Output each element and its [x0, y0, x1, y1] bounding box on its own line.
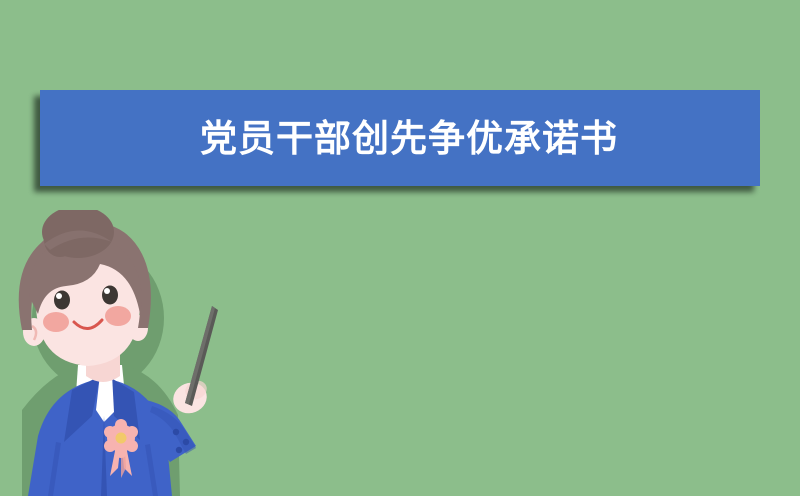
- eye-left-highlight: [56, 293, 62, 299]
- cuff-button-1: [173, 429, 179, 435]
- cheek-left: [43, 312, 69, 332]
- eye-right: [102, 286, 118, 305]
- eye-left: [54, 291, 70, 310]
- cuff-button-3: [176, 447, 182, 453]
- rosette-center: [116, 433, 127, 444]
- title-banner: 党员干部创先争优承诺书: [40, 90, 760, 186]
- teacher-illustration: [0, 210, 260, 496]
- cheek-right: [105, 306, 131, 326]
- cuff-button-2: [183, 439, 189, 445]
- eye-right-highlight: [104, 288, 110, 294]
- slide-title: 党员干部创先争优承诺书: [200, 120, 618, 157]
- slide-canvas: 党员干部创先争优承诺书: [0, 0, 800, 496]
